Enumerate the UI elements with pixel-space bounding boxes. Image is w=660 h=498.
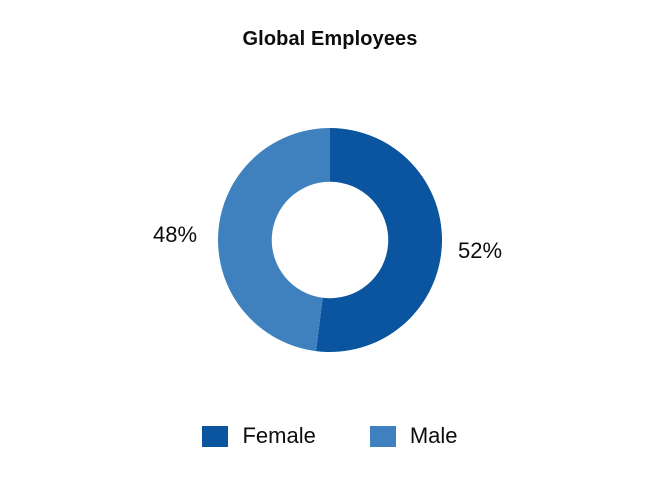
chart-legend: Female Male bbox=[0, 425, 660, 447]
legend-item-female[interactable]: Female bbox=[202, 425, 315, 447]
data-label-female-percent: 52% bbox=[458, 238, 502, 264]
legend-swatch-male-icon bbox=[370, 426, 396, 447]
legend-label-male: Male bbox=[410, 425, 458, 447]
data-label-male-percent: 48% bbox=[153, 222, 197, 248]
chart-title: Global Employees bbox=[0, 28, 660, 51]
donut-plot-area bbox=[218, 128, 442, 352]
legend-label-female: Female bbox=[242, 425, 315, 447]
legend-item-male[interactable]: Male bbox=[370, 425, 458, 447]
legend-swatch-female-icon bbox=[202, 426, 228, 447]
donut-slice-male[interactable] bbox=[218, 128, 330, 351]
donut-chart: Global Employees 48% 52% Female Male bbox=[0, 0, 660, 498]
donut-slices bbox=[218, 128, 442, 352]
donut-slice-female[interactable] bbox=[316, 128, 442, 352]
donut-svg bbox=[218, 128, 442, 352]
